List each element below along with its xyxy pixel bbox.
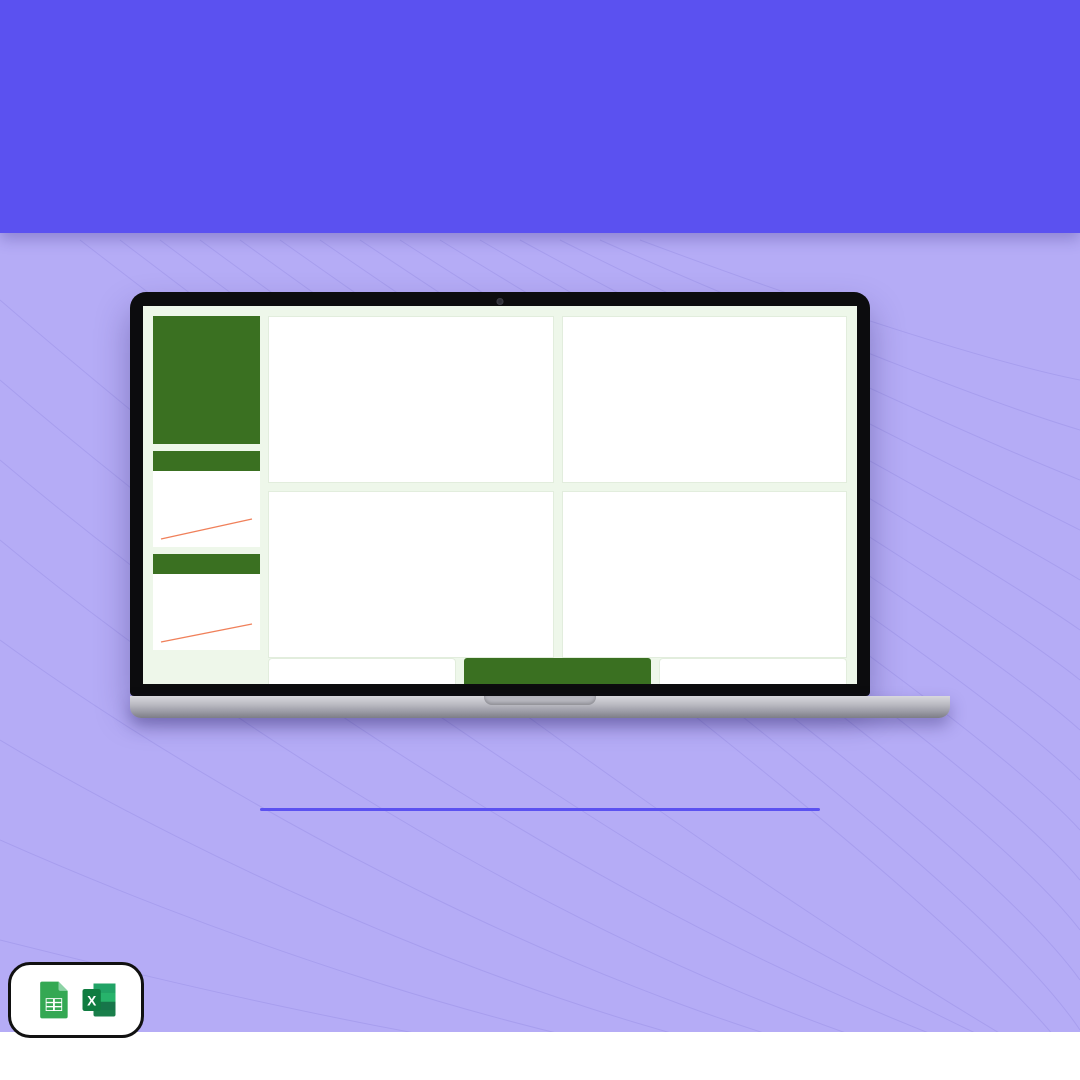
- header-banner: [0, 0, 1080, 233]
- microsoft-excel-icon: X: [77, 978, 121, 1022]
- footer-bar: [0, 1032, 1080, 1080]
- charts-area: [268, 316, 847, 658]
- kpi-sidebar: [153, 316, 260, 658]
- promo-section: [0, 776, 1080, 829]
- charts-row-2: [268, 491, 847, 658]
- bottom-card-left-partial: [268, 658, 456, 684]
- laptop-base-notch: [484, 696, 596, 705]
- bottom-card-center-partial: [464, 658, 650, 684]
- promo-divider: [260, 808, 820, 811]
- laptop-mockup: [130, 292, 950, 718]
- chart-plot-gross-profit-margin: [566, 324, 844, 480]
- laptop-lid: [130, 292, 870, 696]
- google-sheets-icon: [31, 978, 75, 1022]
- webcam-icon: [497, 298, 504, 305]
- chart-card-revenue-vs-expenses: [268, 316, 554, 483]
- spreadsheet-dashboard-screen: [143, 306, 857, 684]
- kpi-total-expenses: [153, 554, 260, 650]
- chart-plot-operating-expense-percentage: [566, 499, 844, 655]
- kpi-total-revenue-box: [153, 471, 260, 547]
- kpi-total-expenses-label: [153, 554, 260, 574]
- bottom-row-spacer: [153, 658, 260, 684]
- svg-text:X: X: [87, 994, 97, 1009]
- chart-plot-net-income: [272, 499, 550, 655]
- dashboard-grid: [143, 306, 857, 658]
- chart-plot-revenue-vs-expenses: [272, 324, 550, 480]
- kpi-total-revenue: [153, 451, 260, 547]
- expenses-sparkline: [159, 618, 254, 644]
- dashboard-title-block: [153, 316, 260, 444]
- charts-row-1: [268, 316, 847, 483]
- chart-card-gross-profit-margin: [562, 316, 848, 483]
- dashboard-bottom-row-partial: [143, 658, 857, 684]
- chart-card-operating-expense-percentage: [562, 491, 848, 658]
- app-compatibility-badge: X: [8, 962, 144, 1038]
- laptop-base: [130, 696, 950, 718]
- chart-card-net-income: [268, 491, 554, 658]
- kpi-total-expenses-box: [153, 574, 260, 650]
- kpi-total-revenue-label: [153, 451, 260, 471]
- revenue-sparkline: [159, 515, 254, 541]
- bottom-card-right-partial: [659, 658, 847, 684]
